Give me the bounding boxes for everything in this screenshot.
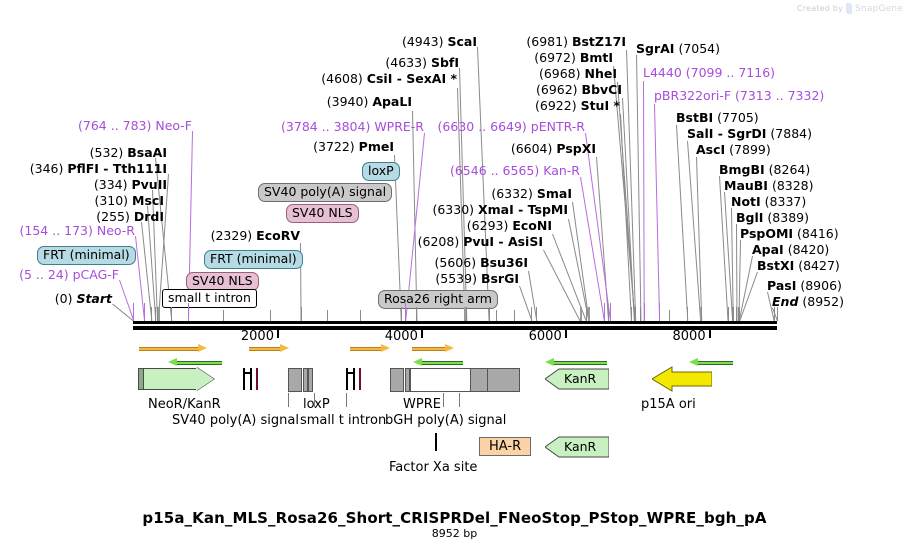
restriction-site-tick xyxy=(496,310,497,321)
feature-pill-sv40-polya-signal[interactable]: SV40 poly(A) signal xyxy=(258,183,392,202)
enzyme-label-pvuii: (334) PvuII xyxy=(94,178,167,191)
enzyme-label-sbfi: (4633) SbfI xyxy=(385,56,459,69)
ruler-tick-label-4000: 4000 xyxy=(385,329,418,344)
ruler-tick-8000 xyxy=(709,330,711,338)
primer-label-pentr-r: (6630 .. 6649) pENTR-R xyxy=(438,120,585,133)
enzyme-label-bsrgi: (5539) BsrGI xyxy=(435,272,519,285)
map-label-factor-xa-site: Factor Xa site xyxy=(389,460,477,475)
restriction-site-tick xyxy=(687,307,688,321)
enzyme-label-bbvci: (6962) BbvCI xyxy=(536,83,622,96)
ruler-tick-2000 xyxy=(277,330,279,338)
restriction-site-tick xyxy=(223,310,224,321)
plasmid-length-label: 8952 bp xyxy=(0,527,909,540)
enzyme-label-sali-sgrdi: SalI - SgrDI (7884) xyxy=(687,127,812,140)
primer-label-wpre-r: (3784 .. 3804) WPRE-R xyxy=(281,120,424,133)
primer-arrow-fwd-4[interactable] xyxy=(350,344,390,353)
primer-arrow-fwd-1[interactable] xyxy=(139,344,207,353)
enzyme-label-bmti: (6972) BmtI xyxy=(534,51,613,64)
gene-arrow-neor-kanr[interactable] xyxy=(138,368,214,390)
restriction-site-tick xyxy=(631,307,632,321)
enzyme-label-noti: NotI (8337) xyxy=(731,195,806,208)
gene-arrow-kanr-upper-label: KanR xyxy=(564,371,596,386)
map-label-small-t-intron: small t intron xyxy=(300,413,386,428)
label-leader-line xyxy=(636,55,641,321)
restriction-site-tick xyxy=(777,307,778,321)
primer-arrow-fwd-5[interactable] xyxy=(412,344,454,353)
enzyme-label-econi: (6293) EcoNI xyxy=(467,219,552,232)
restriction-site-tick xyxy=(610,303,611,321)
restriction-site-tick xyxy=(739,307,740,321)
feature-box-ha-r[interactable]: HA-R xyxy=(479,437,531,456)
ruler-tick-label-8000: 8000 xyxy=(673,329,706,344)
primer-arrow-rev-7[interactable] xyxy=(545,358,607,367)
enzyme-label-sgrai: SgrAI (7054) xyxy=(636,42,720,55)
feature-pill-loxp[interactable]: loxP xyxy=(362,162,400,181)
restriction-site-tick xyxy=(536,307,537,321)
map-label-wpre: WPRE xyxy=(403,397,441,412)
map-label-sv40-polya-signal: SV40 poly(A) signal xyxy=(172,413,299,428)
label-connector-loxp xyxy=(314,393,315,407)
map-label-p15a-ori: p15A ori xyxy=(641,397,696,412)
restriction-site-tick xyxy=(644,303,645,321)
restriction-site-tick xyxy=(580,307,582,321)
enzyme-label-bstz17i: (6981) BstZ17I xyxy=(526,35,626,48)
ruler-tick-label-2000: 2000 xyxy=(241,329,274,344)
enzyme-label-apali: (3940) ApaLI xyxy=(327,95,412,108)
snapgene-watermark: Created by SnapGene xyxy=(797,3,903,14)
enzyme-label-pflfi-tth111i: (346) PflFI - Tth111I xyxy=(30,162,167,175)
restriction-site-tick xyxy=(608,307,609,321)
label-leader-line xyxy=(643,81,645,321)
feature-pill-rosa26-right-arm[interactable]: Rosa26 right arm xyxy=(378,290,498,309)
restriction-site-tick xyxy=(701,307,702,321)
enzyme-label-asci: AscI (7899) xyxy=(696,143,771,156)
enzyme-label-pspxi: (6604) PspXI xyxy=(511,142,596,155)
enzyme-label-bstbi: BstBI (7705) xyxy=(676,111,759,124)
restriction-site-tick xyxy=(301,307,302,321)
restriction-site-tick xyxy=(416,307,417,321)
restriction-site-tick xyxy=(586,307,587,321)
restriction-site-tick xyxy=(669,310,670,321)
enzyme-label-bsu36i: (5606) Bsu36I xyxy=(435,256,528,269)
restriction-site-tick xyxy=(405,303,406,321)
label-leader-line xyxy=(654,104,660,321)
gene-arrow-kanr-lower-label: KanR xyxy=(564,439,596,454)
map-label-loxp: loxP xyxy=(303,397,330,412)
map-label-neor-kanr: NeoR/KanR xyxy=(148,397,221,412)
terminus-label-start: (0) Start xyxy=(55,292,112,305)
enzyme-label-bgli: BglI (8389) xyxy=(736,211,809,224)
restriction-site-tick xyxy=(588,307,590,321)
map-label-bgh-polya-signal: bGH poly(A) signal xyxy=(385,413,506,428)
enzyme-label-stui: (6922) StuI * xyxy=(535,99,620,112)
restriction-site-tick xyxy=(155,307,156,321)
enzyme-label-pmei: (3722) PmeI xyxy=(313,140,394,153)
enzyme-label-nhei: (6968) NheI xyxy=(539,67,617,80)
enzyme-label-csii-sexai: (4608) CsiI - SexAI * xyxy=(321,72,457,85)
primer-label-pcag-f: (5 .. 24) pCAG-F xyxy=(19,268,119,281)
watermark-prefix: Created by xyxy=(797,4,843,13)
restriction-site-tick xyxy=(640,307,641,321)
primer-label-pbr322ori-f: pBR322ori-F (7313 .. 7332) xyxy=(654,89,824,102)
restriction-site-tick xyxy=(158,307,160,321)
enzyme-label-msci: (310) MscI xyxy=(94,194,164,207)
primer-arrow-fwd-3[interactable] xyxy=(249,344,289,353)
enzyme-label-pspomi: PspOMI (8416) xyxy=(740,227,839,240)
factor-xa-site-marker xyxy=(435,433,437,451)
feature-pill-frt-minimal-1[interactable]: FRT (minimal) xyxy=(37,246,136,265)
label-connector-bgh-polya xyxy=(459,393,460,407)
restriction-site-tick xyxy=(531,307,532,321)
enzyme-label-bmgbi: BmgBI (8264) xyxy=(719,163,810,176)
restriction-site-tick xyxy=(133,303,134,321)
feature-pill-small-t-intron[interactable]: small t intron xyxy=(162,289,257,308)
gene-arrow-p15a-ori[interactable] xyxy=(652,365,712,393)
label-leader-line xyxy=(676,125,688,321)
label-connector-small-t-intron xyxy=(346,393,347,407)
enzyme-label-bsaai: (532) BsaAI xyxy=(90,146,167,159)
restriction-site-tick xyxy=(659,303,660,321)
enzyme-label-pasi: PasI (8906) xyxy=(767,279,842,292)
restriction-site-tick xyxy=(489,307,490,321)
restriction-site-tick xyxy=(188,303,189,321)
restriction-site-tick xyxy=(774,307,775,321)
restriction-site-tick xyxy=(171,307,172,321)
restriction-site-tick xyxy=(736,307,737,321)
label-leader-line xyxy=(739,272,758,321)
enzyme-label-pvui-asisi: (6208) PvuI - AsiSI xyxy=(418,235,543,248)
restriction-site-tick xyxy=(464,307,466,321)
restriction-site-tick xyxy=(360,310,361,321)
enzyme-label-ecorv: (2329) EcoRV xyxy=(211,229,300,242)
primer-label-neo-f: (764 .. 783) Neo-F xyxy=(78,119,192,132)
label-connector-sv40-polya xyxy=(288,393,289,407)
primer-arrow-rev-6[interactable] xyxy=(413,358,463,367)
page-title: p15a_Kan_MLS_Rosa26_Short_CRISPRDel_FNeo… xyxy=(0,509,909,527)
enzyme-label-drdi: (255) DrdI xyxy=(96,210,164,223)
restriction-site-tick xyxy=(401,307,402,321)
enzyme-label-xmai-tspmi: (6330) XmaI - TspMI xyxy=(432,203,568,216)
restriction-site-tick xyxy=(733,307,734,321)
enzyme-label-smai: (6332) SmaI xyxy=(491,187,572,200)
feature-pill-sv40-nls-2[interactable]: SV40 NLS xyxy=(286,204,359,223)
gene-arrow-kanr-lower[interactable]: KanR xyxy=(545,435,609,459)
feature-pill-frt-minimal-2[interactable]: FRT (minimal) xyxy=(204,250,303,269)
enzyme-label-apai: ApaI (8420) xyxy=(752,243,829,256)
watermark-brand: SnapGene xyxy=(855,4,903,14)
restriction-site-tick xyxy=(270,310,271,321)
enzyme-label-bstxi: BstXI (8427) xyxy=(757,259,840,272)
restriction-site-tick xyxy=(157,307,158,321)
gene-arrow-kanr-upper[interactable]: KanR xyxy=(545,367,609,391)
restriction-site-tick xyxy=(604,303,605,321)
primer-label-neo-r: (154 .. 173) Neo-R xyxy=(20,224,135,237)
restriction-site-tick xyxy=(151,307,152,321)
ruler-tick-6000 xyxy=(565,330,567,338)
restriction-site-tick xyxy=(728,307,729,321)
primer-label-kan-r: (6546 .. 6565) Kan-R xyxy=(450,164,580,177)
terminus-label-end: End (8952) xyxy=(772,295,844,308)
enzyme-label-scai: (4943) ScaI xyxy=(402,35,477,48)
ruler-tick-4000 xyxy=(421,330,423,338)
restriction-site-tick xyxy=(144,303,145,321)
primer-label-l4440: L4440 (7099 .. 7116) xyxy=(643,66,775,79)
restriction-site-tick xyxy=(327,310,328,321)
ruler-tick-label-6000: 6000 xyxy=(529,329,562,344)
primer-arrow-rev-2[interactable] xyxy=(168,358,222,367)
snapgene-logo-icon xyxy=(846,3,852,14)
label-connector-wpre xyxy=(443,393,444,407)
enzyme-label-maubi: MauBI (8328) xyxy=(724,179,814,192)
restriction-site-tick xyxy=(634,307,635,321)
restriction-site-tick xyxy=(514,310,515,321)
